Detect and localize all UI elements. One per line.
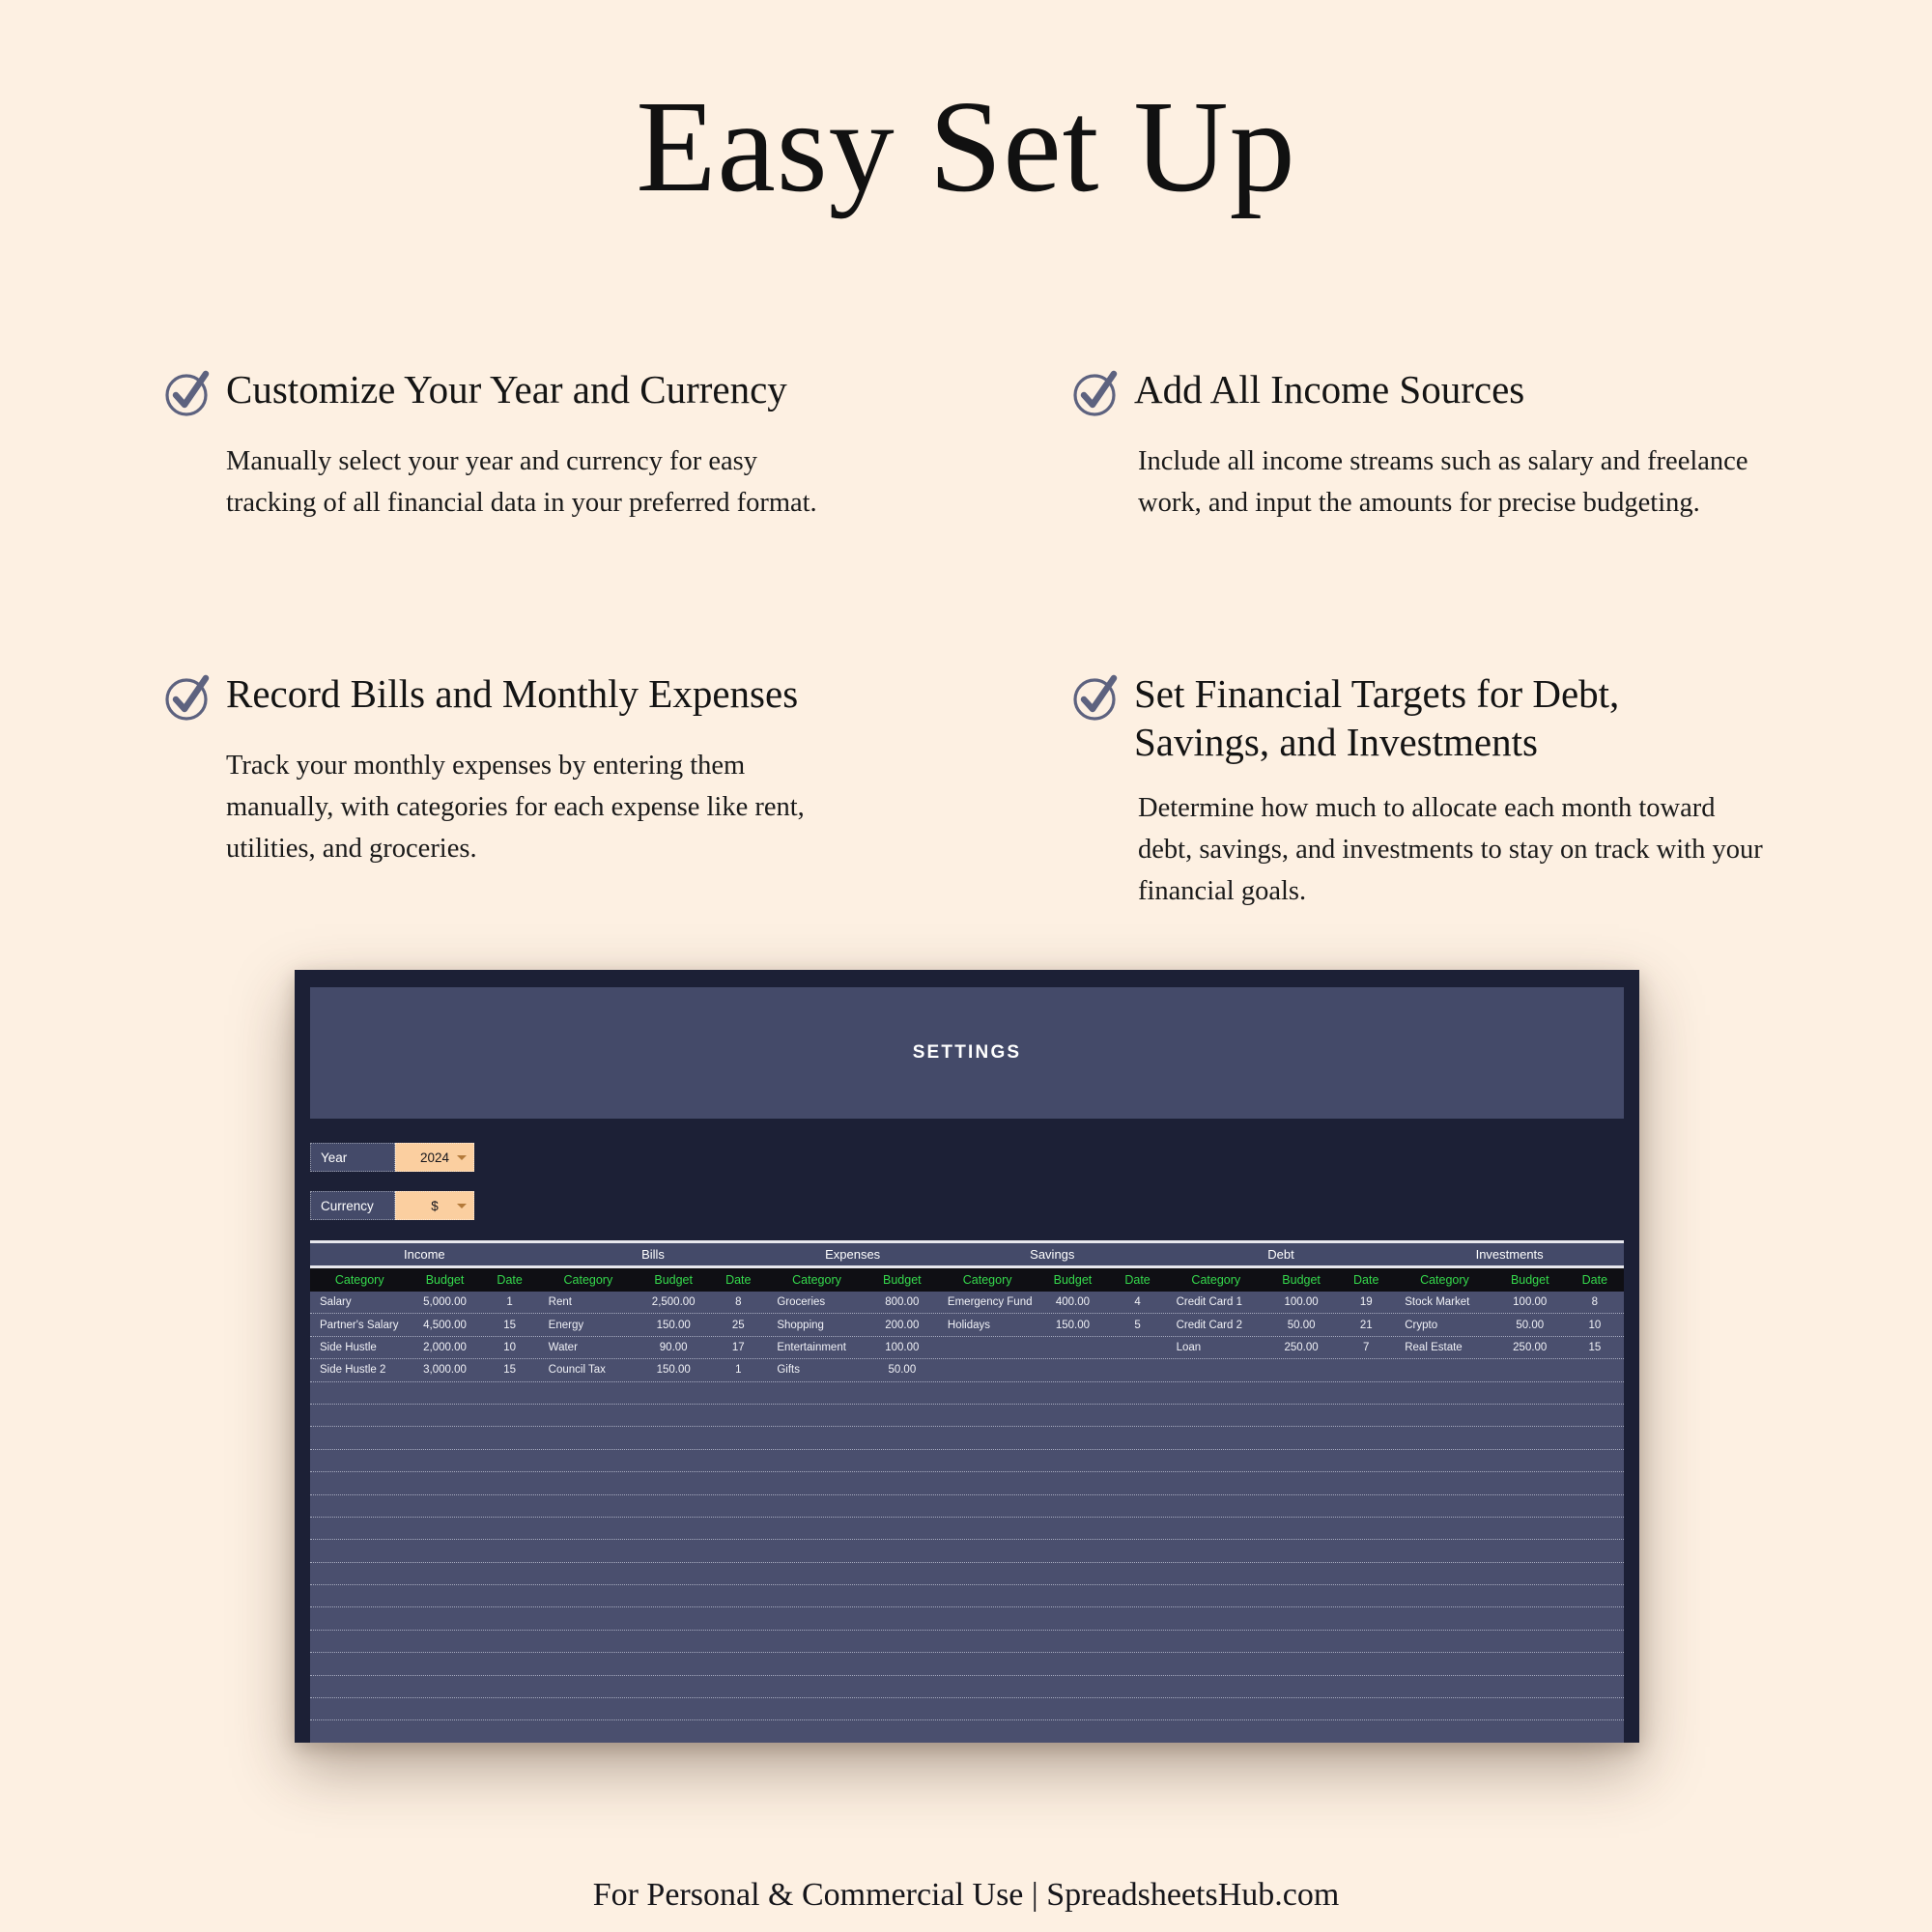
table-cell[interactable] — [1109, 1585, 1167, 1606]
table-cell[interactable]: Credit Card 2 — [1167, 1314, 1265, 1335]
table-cell[interactable] — [1109, 1382, 1167, 1404]
table-cell[interactable] — [1337, 1518, 1395, 1539]
table-cell[interactable] — [1167, 1540, 1265, 1561]
table-cell[interactable] — [1167, 1450, 1265, 1471]
table-cell[interactable] — [1566, 1563, 1624, 1584]
table-row[interactable] — [310, 1607, 1624, 1630]
table-cell[interactable] — [1167, 1563, 1265, 1584]
table-cell[interactable] — [310, 1495, 409, 1517]
table-cell[interactable] — [767, 1653, 866, 1674]
table-cell[interactable]: 5 — [1109, 1314, 1167, 1335]
table-cell[interactable] — [481, 1607, 539, 1629]
table-cell[interactable] — [1109, 1495, 1167, 1517]
table-cell[interactable] — [938, 1450, 1037, 1471]
table-cell[interactable] — [867, 1472, 938, 1493]
table-cell[interactable]: 5,000.00 — [409, 1292, 480, 1313]
table-cell[interactable]: 2,000.00 — [409, 1337, 480, 1358]
table-cell[interactable] — [1265, 1472, 1337, 1493]
table-cell[interactable]: Side Hustle — [310, 1337, 409, 1358]
table-cell[interactable] — [767, 1427, 866, 1448]
table-cell[interactable] — [638, 1585, 709, 1606]
table-cell[interactable] — [1494, 1720, 1566, 1742]
table-cell[interactable] — [1566, 1382, 1624, 1404]
table-cell[interactable] — [867, 1585, 938, 1606]
table-cell[interactable]: 7 — [1337, 1337, 1395, 1358]
table-cell[interactable] — [310, 1720, 409, 1742]
table-cell[interactable] — [1265, 1382, 1337, 1404]
table-cell[interactable] — [409, 1405, 480, 1426]
table-cell[interactable] — [938, 1676, 1037, 1697]
table-cell[interactable] — [1494, 1518, 1566, 1539]
table-cell[interactable] — [539, 1427, 638, 1448]
table-cell[interactable] — [310, 1405, 409, 1426]
table-cell[interactable] — [638, 1631, 709, 1652]
table-cell[interactable] — [1167, 1676, 1265, 1697]
table-cell[interactable] — [709, 1382, 767, 1404]
table-cell[interactable] — [867, 1495, 938, 1517]
table-cell[interactable] — [1265, 1631, 1337, 1652]
table-cell[interactable] — [481, 1653, 539, 1674]
table-cell[interactable] — [638, 1720, 709, 1742]
table-cell[interactable] — [767, 1382, 866, 1404]
table-cell[interactable] — [1167, 1518, 1265, 1539]
table-cell[interactable] — [638, 1676, 709, 1697]
table-cell[interactable] — [938, 1585, 1037, 1606]
table-cell[interactable] — [1395, 1676, 1493, 1697]
table-cell[interactable] — [1395, 1495, 1493, 1517]
table-cell[interactable] — [1167, 1698, 1265, 1719]
table-cell[interactable] — [539, 1631, 638, 1652]
table-cell[interactable]: 50.00 — [1265, 1314, 1337, 1335]
table-cell[interactable] — [1395, 1427, 1493, 1448]
table-cell[interactable] — [867, 1382, 938, 1404]
table-cell[interactable] — [1494, 1676, 1566, 1697]
table-cell[interactable] — [1265, 1427, 1337, 1448]
table-row[interactable] — [310, 1631, 1624, 1653]
table-row[interactable] — [310, 1676, 1624, 1698]
table-cell[interactable]: 15 — [481, 1359, 539, 1380]
table-cell[interactable]: 250.00 — [1265, 1337, 1337, 1358]
table-cell[interactable] — [539, 1518, 638, 1539]
table-cell[interactable]: 8 — [1566, 1292, 1624, 1313]
table-cell[interactable] — [709, 1472, 767, 1493]
table-cell[interactable] — [1566, 1585, 1624, 1606]
table-cell[interactable]: 50.00 — [867, 1359, 938, 1380]
table-cell[interactable] — [1395, 1472, 1493, 1493]
table-cell[interactable] — [638, 1450, 709, 1471]
table-cell[interactable] — [638, 1698, 709, 1719]
table-cell[interactable] — [1037, 1359, 1108, 1380]
table-cell[interactable] — [1395, 1698, 1493, 1719]
table-cell[interactable] — [1566, 1518, 1624, 1539]
table-cell[interactable] — [709, 1495, 767, 1517]
table-cell[interactable] — [1037, 1585, 1108, 1606]
table-cell[interactable] — [1109, 1405, 1167, 1426]
table-cell[interactable] — [481, 1676, 539, 1697]
table-cell[interactable]: Entertainment — [767, 1337, 866, 1358]
table-row[interactable] — [310, 1563, 1624, 1585]
table-cell[interactable] — [1337, 1472, 1395, 1493]
table-cell[interactable] — [1109, 1540, 1167, 1561]
table-cell[interactable] — [938, 1698, 1037, 1719]
table-cell[interactable] — [1037, 1540, 1108, 1561]
table-cell[interactable] — [1566, 1472, 1624, 1493]
table-cell[interactable] — [1109, 1337, 1167, 1358]
table-cell[interactable] — [938, 1337, 1037, 1358]
table-cell[interactable] — [539, 1450, 638, 1471]
table-row[interactable] — [310, 1427, 1624, 1449]
table-cell[interactable]: 1 — [709, 1359, 767, 1380]
table-cell[interactable] — [938, 1607, 1037, 1629]
table-cell[interactable] — [539, 1676, 638, 1697]
table-cell[interactable] — [1395, 1405, 1493, 1426]
table-cell[interactable]: 10 — [481, 1337, 539, 1358]
table-cell[interactable] — [1109, 1653, 1167, 1674]
table-cell[interactable] — [709, 1563, 767, 1584]
table-cell[interactable] — [1265, 1495, 1337, 1517]
table-cell[interactable] — [1337, 1427, 1395, 1448]
table-cell[interactable] — [709, 1653, 767, 1674]
table-cell[interactable] — [1395, 1563, 1493, 1584]
table-cell[interactable]: 150.00 — [638, 1359, 709, 1380]
table-cell[interactable] — [867, 1653, 938, 1674]
table-cell[interactable] — [310, 1382, 409, 1404]
table-cell[interactable] — [310, 1607, 409, 1629]
table-cell[interactable] — [409, 1472, 480, 1493]
table-row[interactable]: Salary5,000.001Rent2,500.008Groceries800… — [310, 1292, 1624, 1314]
table-cell[interactable]: 4,500.00 — [409, 1314, 480, 1335]
table-cell[interactable]: 10 — [1566, 1314, 1624, 1335]
table-row[interactable] — [310, 1653, 1624, 1675]
table-cell[interactable] — [1265, 1518, 1337, 1539]
table-row[interactable]: Side Hustle2,000.0010Water90.0017Enterta… — [310, 1337, 1624, 1359]
table-cell[interactable] — [481, 1427, 539, 1448]
table-cell[interactable] — [1337, 1495, 1395, 1517]
table-cell[interactable] — [1265, 1450, 1337, 1471]
table-cell[interactable] — [481, 1698, 539, 1719]
table-cell[interactable] — [938, 1472, 1037, 1493]
table-cell[interactable] — [638, 1518, 709, 1539]
table-cell[interactable] — [481, 1472, 539, 1493]
table-cell[interactable] — [1167, 1382, 1265, 1404]
table-cell[interactable] — [638, 1405, 709, 1426]
table-cell[interactable] — [1395, 1720, 1493, 1742]
table-cell[interactable] — [539, 1495, 638, 1517]
table-cell[interactable]: 100.00 — [1494, 1292, 1566, 1313]
table-cell[interactable] — [767, 1405, 866, 1426]
table-cell[interactable] — [867, 1607, 938, 1629]
table-cell[interactable] — [1494, 1653, 1566, 1674]
table-cell[interactable] — [1337, 1676, 1395, 1697]
table-cell[interactable] — [1265, 1698, 1337, 1719]
table-cell[interactable] — [481, 1720, 539, 1742]
table-cell[interactable] — [1395, 1382, 1493, 1404]
table-cell[interactable] — [1037, 1518, 1108, 1539]
table-cell[interactable] — [767, 1698, 866, 1719]
table-cell[interactable]: Holidays — [938, 1314, 1037, 1335]
table-cell[interactable] — [1109, 1720, 1167, 1742]
table-cell[interactable] — [1037, 1631, 1108, 1652]
table-cell[interactable] — [539, 1472, 638, 1493]
table-cell[interactable] — [481, 1450, 539, 1471]
table-cell[interactable]: Stock Market — [1395, 1292, 1493, 1313]
table-cell[interactable] — [638, 1495, 709, 1517]
table-cell[interactable] — [938, 1720, 1037, 1742]
table-cell[interactable]: Salary — [310, 1292, 409, 1313]
table-cell[interactable] — [409, 1585, 480, 1606]
table-cell[interactable] — [409, 1427, 480, 1448]
table-cell[interactable] — [1337, 1698, 1395, 1719]
table-cell[interactable] — [638, 1540, 709, 1561]
table-cell[interactable] — [1265, 1676, 1337, 1697]
table-cell[interactable] — [767, 1720, 866, 1742]
table-cell[interactable] — [1037, 1427, 1108, 1448]
table-cell[interactable] — [1265, 1585, 1337, 1606]
table-cell[interactable] — [1395, 1607, 1493, 1629]
table-cell[interactable] — [1167, 1359, 1265, 1380]
table-cell[interactable] — [1109, 1563, 1167, 1584]
table-cell[interactable] — [1265, 1653, 1337, 1674]
table-cell[interactable] — [867, 1450, 938, 1471]
table-cell[interactable] — [409, 1698, 480, 1719]
currency-dropdown[interactable]: $ — [395, 1191, 474, 1220]
table-cell[interactable] — [767, 1631, 866, 1652]
table-cell[interactable] — [638, 1563, 709, 1584]
table-cell[interactable] — [539, 1540, 638, 1561]
table-cell[interactable]: Council Tax — [539, 1359, 638, 1380]
table-cell[interactable] — [1337, 1382, 1395, 1404]
table-cell[interactable]: 1 — [481, 1292, 539, 1313]
table-cell[interactable] — [1337, 1540, 1395, 1561]
table-cell[interactable]: Emergency Fund — [938, 1292, 1037, 1313]
table-cell[interactable] — [1494, 1359, 1566, 1380]
table-cell[interactable] — [1109, 1631, 1167, 1652]
table-cell[interactable] — [539, 1653, 638, 1674]
table-cell[interactable] — [938, 1495, 1037, 1517]
table-cell[interactable]: 250.00 — [1494, 1337, 1566, 1358]
table-cell[interactable] — [1337, 1631, 1395, 1652]
table-row[interactable] — [310, 1540, 1624, 1562]
table-cell[interactable]: 800.00 — [867, 1292, 938, 1313]
table-cell[interactable] — [1265, 1405, 1337, 1426]
table-cell[interactable] — [767, 1607, 866, 1629]
table-cell[interactable] — [709, 1676, 767, 1697]
table-cell[interactable]: Crypto — [1395, 1314, 1493, 1335]
table-cell[interactable] — [1167, 1472, 1265, 1493]
table-cell[interactable] — [709, 1540, 767, 1561]
table-cell[interactable] — [938, 1631, 1037, 1652]
table-row[interactable] — [310, 1698, 1624, 1720]
table-cell[interactable] — [310, 1472, 409, 1493]
table-cell[interactable] — [1566, 1631, 1624, 1652]
table-cell[interactable]: 2,500.00 — [638, 1292, 709, 1313]
table-cell[interactable] — [481, 1563, 539, 1584]
table-cell[interactable] — [1395, 1518, 1493, 1539]
table-cell[interactable]: 150.00 — [638, 1314, 709, 1335]
table-cell[interactable] — [310, 1653, 409, 1674]
table-cell[interactable] — [1167, 1607, 1265, 1629]
table-cell[interactable] — [1265, 1720, 1337, 1742]
table-cell[interactable] — [867, 1631, 938, 1652]
table-cell[interactable] — [1566, 1720, 1624, 1742]
table-cell[interactable] — [1566, 1676, 1624, 1697]
table-cell[interactable]: 25 — [709, 1314, 767, 1335]
table-row[interactable] — [310, 1405, 1624, 1427]
table-cell[interactable] — [1395, 1540, 1493, 1561]
table-cell[interactable] — [638, 1653, 709, 1674]
table-cell[interactable] — [938, 1405, 1037, 1426]
table-cell[interactable] — [638, 1472, 709, 1493]
table-cell[interactable] — [867, 1427, 938, 1448]
table-cell[interactable]: 15 — [481, 1314, 539, 1335]
table-cell[interactable] — [409, 1676, 480, 1697]
table-cell[interactable] — [1566, 1653, 1624, 1674]
table-cell[interactable] — [310, 1631, 409, 1652]
table-cell[interactable] — [1037, 1720, 1108, 1742]
table-cell[interactable] — [1494, 1427, 1566, 1448]
table-cell[interactable] — [867, 1518, 938, 1539]
table-cell[interactable] — [1167, 1720, 1265, 1742]
table-cell[interactable]: 4 — [1109, 1292, 1167, 1313]
table-cell[interactable] — [310, 1585, 409, 1606]
table-row[interactable] — [310, 1585, 1624, 1607]
table-cell[interactable] — [1395, 1450, 1493, 1471]
table-cell[interactable] — [1109, 1359, 1167, 1380]
table-cell[interactable] — [938, 1518, 1037, 1539]
table-cell[interactable] — [767, 1676, 866, 1697]
table-cell[interactable] — [1037, 1450, 1108, 1471]
table-cell[interactable] — [1337, 1450, 1395, 1471]
table-cell[interactable] — [1494, 1495, 1566, 1517]
table-cell[interactable]: Real Estate — [1395, 1337, 1493, 1358]
table-cell[interactable]: Rent — [539, 1292, 638, 1313]
table-cell[interactable] — [1395, 1585, 1493, 1606]
table-cell[interactable] — [1037, 1405, 1108, 1426]
table-cell[interactable] — [1109, 1450, 1167, 1471]
table-cell[interactable] — [1494, 1563, 1566, 1584]
table-cell[interactable] — [539, 1698, 638, 1719]
table-cell[interactable] — [1395, 1631, 1493, 1652]
table-cell[interactable]: 90.00 — [638, 1337, 709, 1358]
table-cell[interactable] — [938, 1653, 1037, 1674]
table-cell[interactable] — [709, 1405, 767, 1426]
table-cell[interactable] — [767, 1472, 866, 1493]
table-cell[interactable] — [1265, 1563, 1337, 1584]
table-cell[interactable] — [409, 1540, 480, 1561]
table-cell[interactable] — [310, 1540, 409, 1561]
table-cell[interactable]: 15 — [1566, 1337, 1624, 1358]
table-cell[interactable] — [409, 1563, 480, 1584]
table-row[interactable]: Side Hustle 23,000.0015Council Tax150.00… — [310, 1359, 1624, 1381]
table-cell[interactable] — [409, 1450, 480, 1471]
table-cell[interactable] — [310, 1698, 409, 1719]
table-cell[interactable] — [1566, 1698, 1624, 1719]
table-cell[interactable]: Water — [539, 1337, 638, 1358]
table-cell[interactable] — [310, 1518, 409, 1539]
table-cell[interactable] — [638, 1382, 709, 1404]
table-cell[interactable]: Groceries — [767, 1292, 866, 1313]
table-cell[interactable]: Gifts — [767, 1359, 866, 1380]
table-cell[interactable] — [1037, 1472, 1108, 1493]
table-cell[interactable] — [767, 1495, 866, 1517]
table-cell[interactable] — [1265, 1607, 1337, 1629]
table-cell[interactable] — [1494, 1450, 1566, 1471]
table-cell[interactable] — [938, 1359, 1037, 1380]
table-cell[interactable]: 100.00 — [867, 1337, 938, 1358]
table-cell[interactable] — [1037, 1382, 1108, 1404]
table-cell[interactable] — [938, 1382, 1037, 1404]
table-cell[interactable] — [1037, 1337, 1108, 1358]
table-cell[interactable] — [539, 1585, 638, 1606]
table-cell[interactable] — [867, 1405, 938, 1426]
table-cell[interactable] — [1109, 1698, 1167, 1719]
table-cell[interactable] — [1037, 1495, 1108, 1517]
table-cell[interactable] — [709, 1631, 767, 1652]
table-row[interactable]: Partner's Salary4,500.0015Energy150.0025… — [310, 1314, 1624, 1336]
table-cell[interactable]: Loan — [1167, 1337, 1265, 1358]
table-cell[interactable] — [938, 1563, 1037, 1584]
table-cell[interactable] — [481, 1631, 539, 1652]
table-cell[interactable] — [1167, 1405, 1265, 1426]
table-cell[interactable] — [1395, 1359, 1493, 1380]
table-cell[interactable]: 8 — [709, 1292, 767, 1313]
table-cell[interactable]: 150.00 — [1037, 1314, 1108, 1335]
table-cell[interactable] — [1494, 1472, 1566, 1493]
table-cell[interactable] — [409, 1720, 480, 1742]
table-cell[interactable] — [409, 1607, 480, 1629]
table-cell[interactable] — [1337, 1653, 1395, 1674]
table-cell[interactable] — [1337, 1563, 1395, 1584]
table-cell[interactable] — [409, 1495, 480, 1517]
table-cell[interactable]: 200.00 — [867, 1314, 938, 1335]
table-cell[interactable] — [709, 1585, 767, 1606]
table-cell[interactable]: Energy — [539, 1314, 638, 1335]
table-cell[interactable] — [1494, 1405, 1566, 1426]
table-cell[interactable] — [1494, 1585, 1566, 1606]
table-cell[interactable] — [409, 1518, 480, 1539]
table-cell[interactable] — [1337, 1720, 1395, 1742]
table-cell[interactable] — [767, 1563, 866, 1584]
table-cell[interactable] — [1037, 1698, 1108, 1719]
table-cell[interactable] — [1167, 1495, 1265, 1517]
table-cell[interactable] — [1109, 1676, 1167, 1697]
table-cell[interactable] — [1167, 1427, 1265, 1448]
table-cell[interactable] — [938, 1427, 1037, 1448]
table-cell[interactable] — [409, 1653, 480, 1674]
table-cell[interactable] — [1566, 1495, 1624, 1517]
table-cell[interactable]: 400.00 — [1037, 1292, 1108, 1313]
table-row[interactable] — [310, 1450, 1624, 1472]
table-cell[interactable]: Shopping — [767, 1314, 866, 1335]
table-cell[interactable] — [409, 1631, 480, 1652]
table-cell[interactable] — [481, 1518, 539, 1539]
table-cell[interactable] — [867, 1698, 938, 1719]
table-cell[interactable] — [867, 1540, 938, 1561]
table-cell[interactable] — [1265, 1359, 1337, 1380]
table-cell[interactable]: 19 — [1337, 1292, 1395, 1313]
table-cell[interactable] — [709, 1607, 767, 1629]
table-cell[interactable] — [1109, 1607, 1167, 1629]
table-cell[interactable] — [1566, 1540, 1624, 1561]
table-cell[interactable] — [1109, 1472, 1167, 1493]
table-cell[interactable] — [1494, 1698, 1566, 1719]
table-cell[interactable] — [1337, 1607, 1395, 1629]
table-cell[interactable] — [409, 1382, 480, 1404]
table-cell[interactable] — [310, 1676, 409, 1697]
table-cell[interactable] — [767, 1450, 866, 1471]
table-cell[interactable] — [709, 1518, 767, 1539]
table-cell[interactable] — [1167, 1585, 1265, 1606]
